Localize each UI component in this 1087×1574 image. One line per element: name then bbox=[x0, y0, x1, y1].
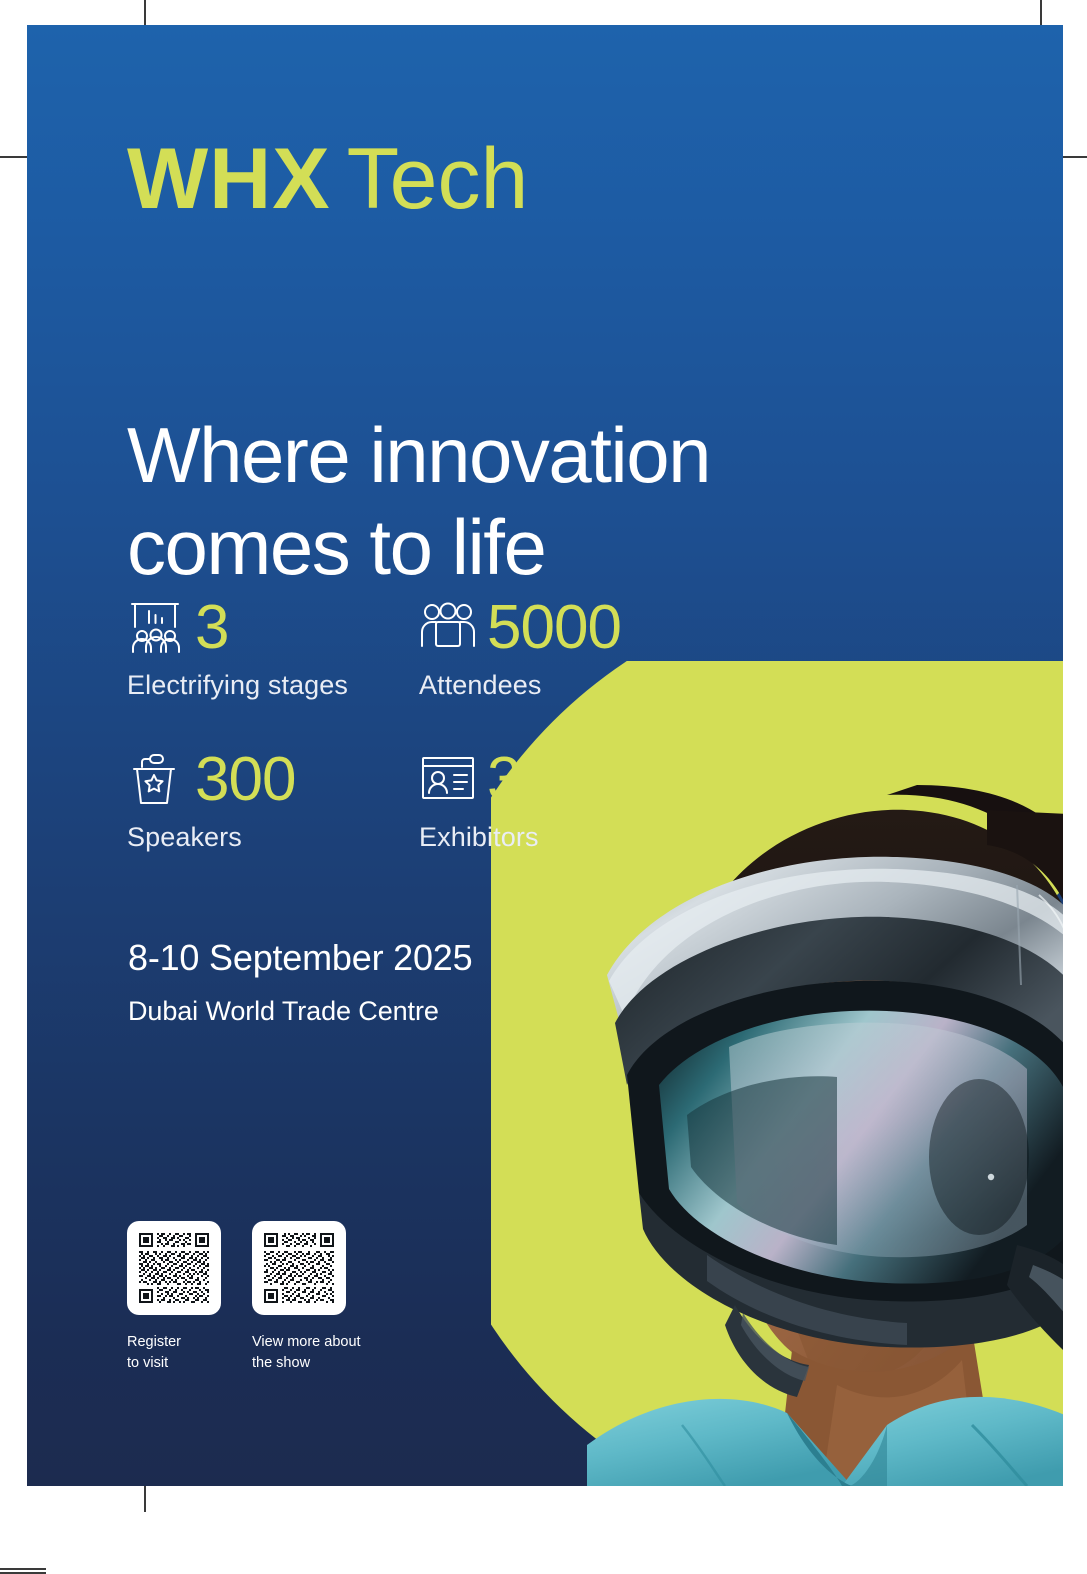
speaker-podium-icon bbox=[127, 753, 185, 807]
stat-label: Attendees bbox=[419, 670, 711, 701]
stats-row-2: 300 Speakers bbox=[127, 749, 767, 853]
stat-speakers: 300 Speakers bbox=[127, 749, 419, 853]
stat-attendees: 5000 Attendees bbox=[419, 597, 711, 701]
event-dates: 8-10 September 2025 bbox=[128, 937, 472, 979]
logo-whx: WHX bbox=[127, 131, 331, 227]
stats-grid: 3 Electrifying stages bbox=[127, 597, 767, 901]
qr-block-show-info: View more about the show bbox=[252, 1221, 361, 1374]
qr-code-area: Register to visit bbox=[127, 1221, 392, 1374]
event-details: 8-10 September 2025 Dubai World Trade Ce… bbox=[128, 937, 472, 1027]
show-info-qr-card[interactable] bbox=[252, 1221, 346, 1315]
register-qr-caption: Register to visit bbox=[127, 1332, 221, 1374]
stat-exhibitors: 300 Exhibitors bbox=[419, 749, 711, 853]
stat-electrifying-stages: 3 Electrifying stages bbox=[127, 597, 419, 701]
brand-logo: WHXTech bbox=[127, 136, 528, 222]
logo-tech: Tech bbox=[347, 131, 529, 227]
show-info-qr-icon[interactable] bbox=[262, 1231, 336, 1305]
stage-presentation-icon bbox=[127, 601, 185, 655]
crop-mark-bottom-left-horizontal bbox=[0, 1568, 46, 1570]
register-qr-card[interactable] bbox=[127, 1221, 221, 1315]
qr-block-register: Register to visit bbox=[127, 1221, 221, 1374]
stat-value: 300 bbox=[487, 749, 587, 811]
stats-row-1: 3 Electrifying stages bbox=[127, 597, 767, 701]
stat-label: Speakers bbox=[127, 822, 419, 853]
stat-label: Electrifying stages bbox=[127, 670, 419, 701]
page-title: Where innovation comes to life bbox=[127, 410, 887, 593]
stat-value: 5000 bbox=[487, 597, 621, 659]
attendees-group-icon bbox=[419, 601, 477, 655]
poster-canvas: WHXTech Where innovation comes to life bbox=[27, 25, 1063, 1486]
stat-label: Exhibitors bbox=[419, 822, 711, 853]
stat-value: 300 bbox=[195, 749, 295, 811]
register-qr-icon[interactable] bbox=[137, 1231, 211, 1305]
exhibitor-badge-icon bbox=[419, 753, 477, 807]
stat-value: 3 bbox=[195, 597, 228, 659]
event-venue: Dubai World Trade Centre bbox=[128, 996, 472, 1027]
show-info-qr-caption: View more about the show bbox=[252, 1332, 361, 1374]
